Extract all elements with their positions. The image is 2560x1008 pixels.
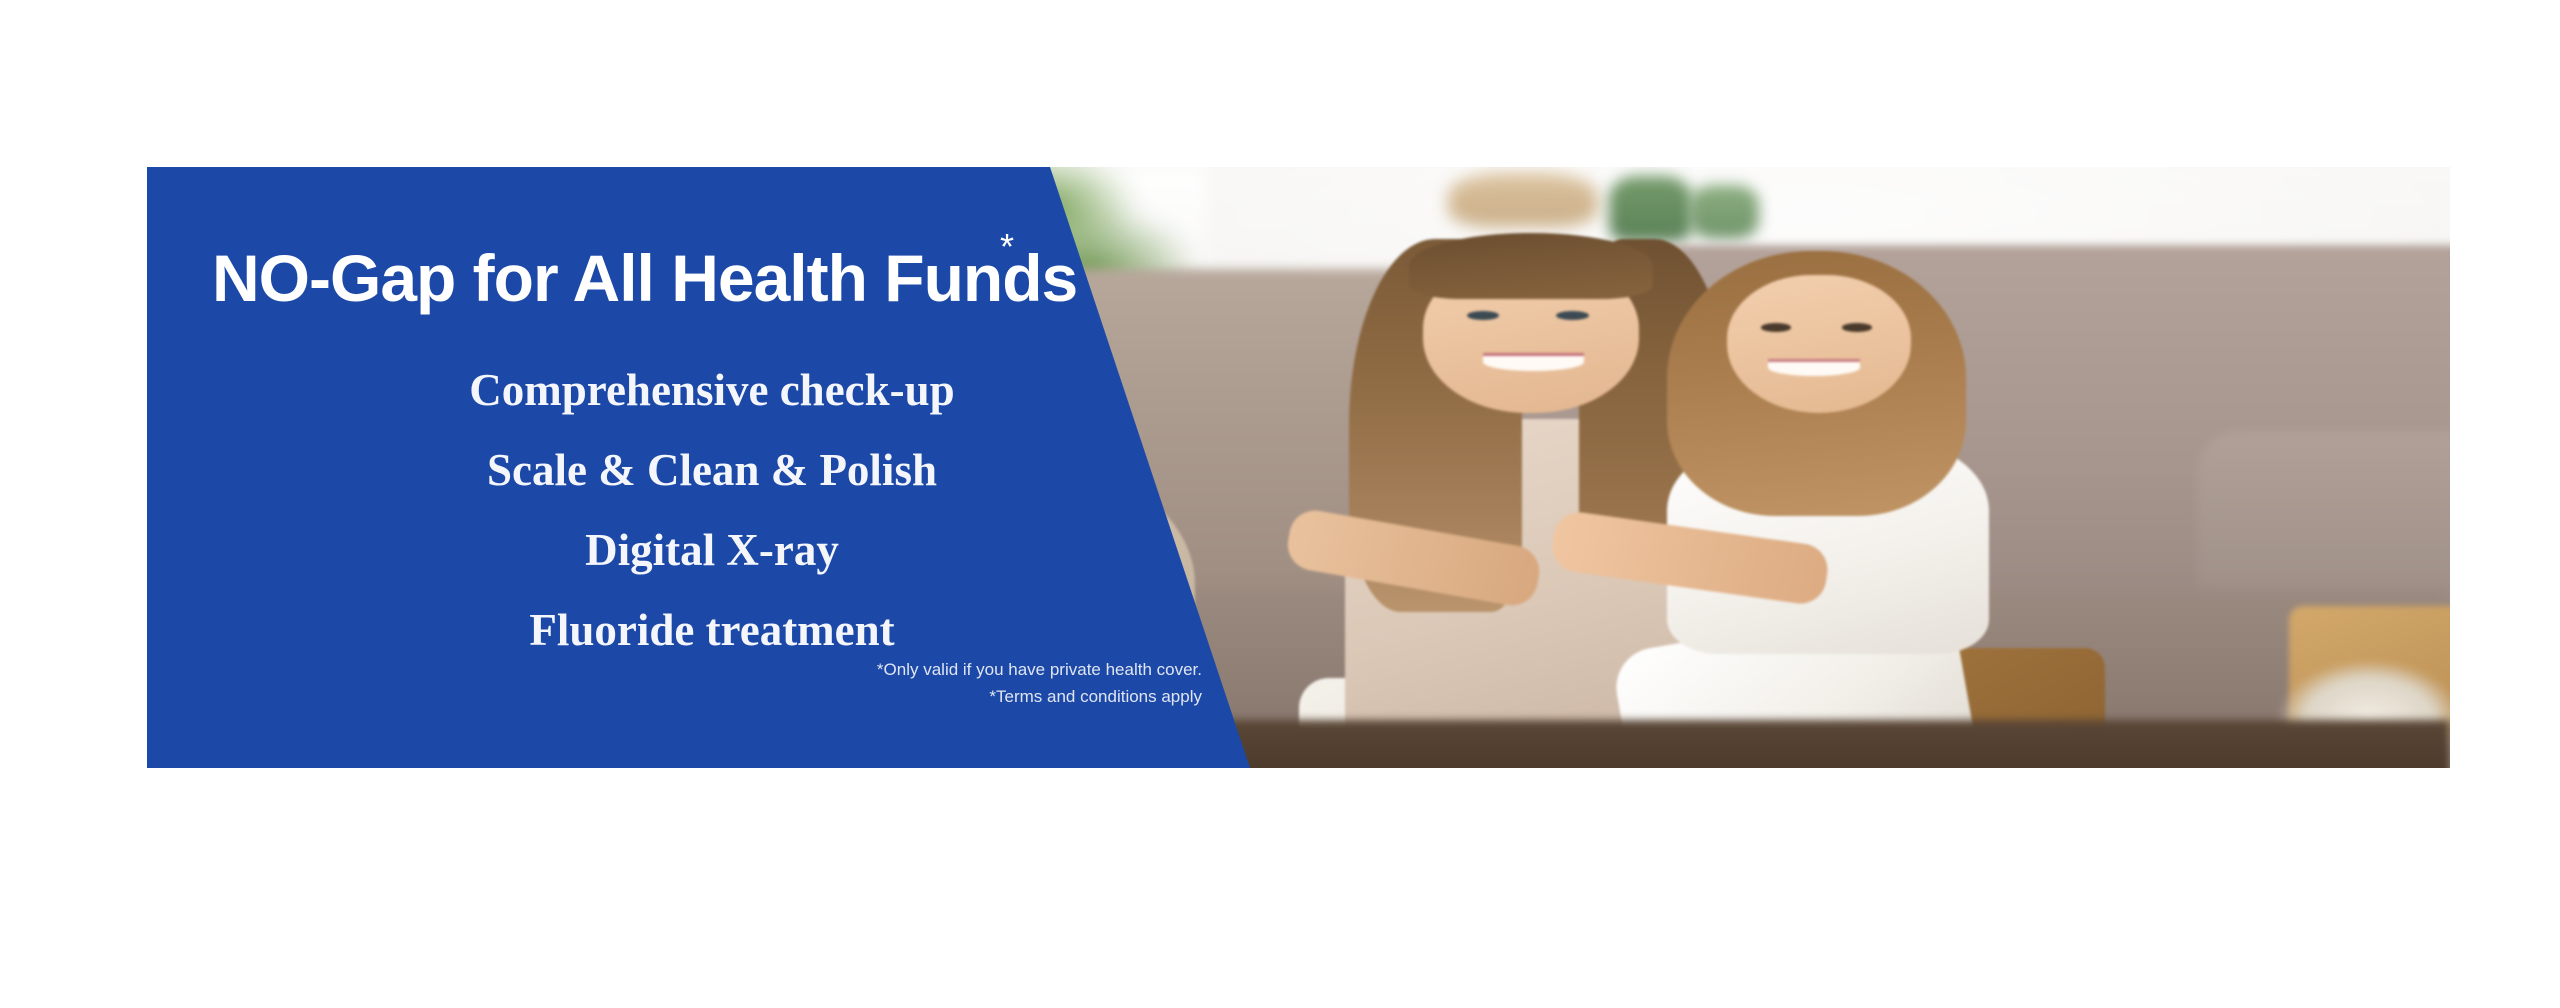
service-list: Comprehensive check-up Scale & Clean & P… (207, 350, 1217, 670)
list-item: Digital X-ray (207, 510, 1217, 590)
page-root: NO-Gap for All Health Funds * Comprehens… (0, 0, 2560, 1008)
headline-asterisk: * (1000, 229, 1014, 265)
list-item: Scale & Clean & Polish (207, 430, 1217, 510)
disclaimer: *Only valid if you have private health c… (627, 656, 1202, 710)
shelf-object-bowl (1448, 173, 1598, 227)
mother-hair-top (1409, 233, 1653, 299)
shelf-object-plant-b (1690, 185, 1759, 239)
girl-face (1727, 275, 1911, 413)
page-title: NO-Gap for All Health Funds (212, 245, 1032, 311)
shelf-object-plant-a (1609, 176, 1692, 242)
girl-eye-left (1761, 323, 1791, 331)
nogap-promo-banner: NO-Gap for All Health Funds * Comprehens… (147, 167, 2450, 768)
disclaimer-line-1: *Only valid if you have private health c… (627, 656, 1202, 683)
girl-eye-right (1842, 323, 1872, 331)
disclaimer-line-2: *Terms and conditions apply (627, 683, 1202, 710)
list-item: Comprehensive check-up (207, 350, 1217, 430)
